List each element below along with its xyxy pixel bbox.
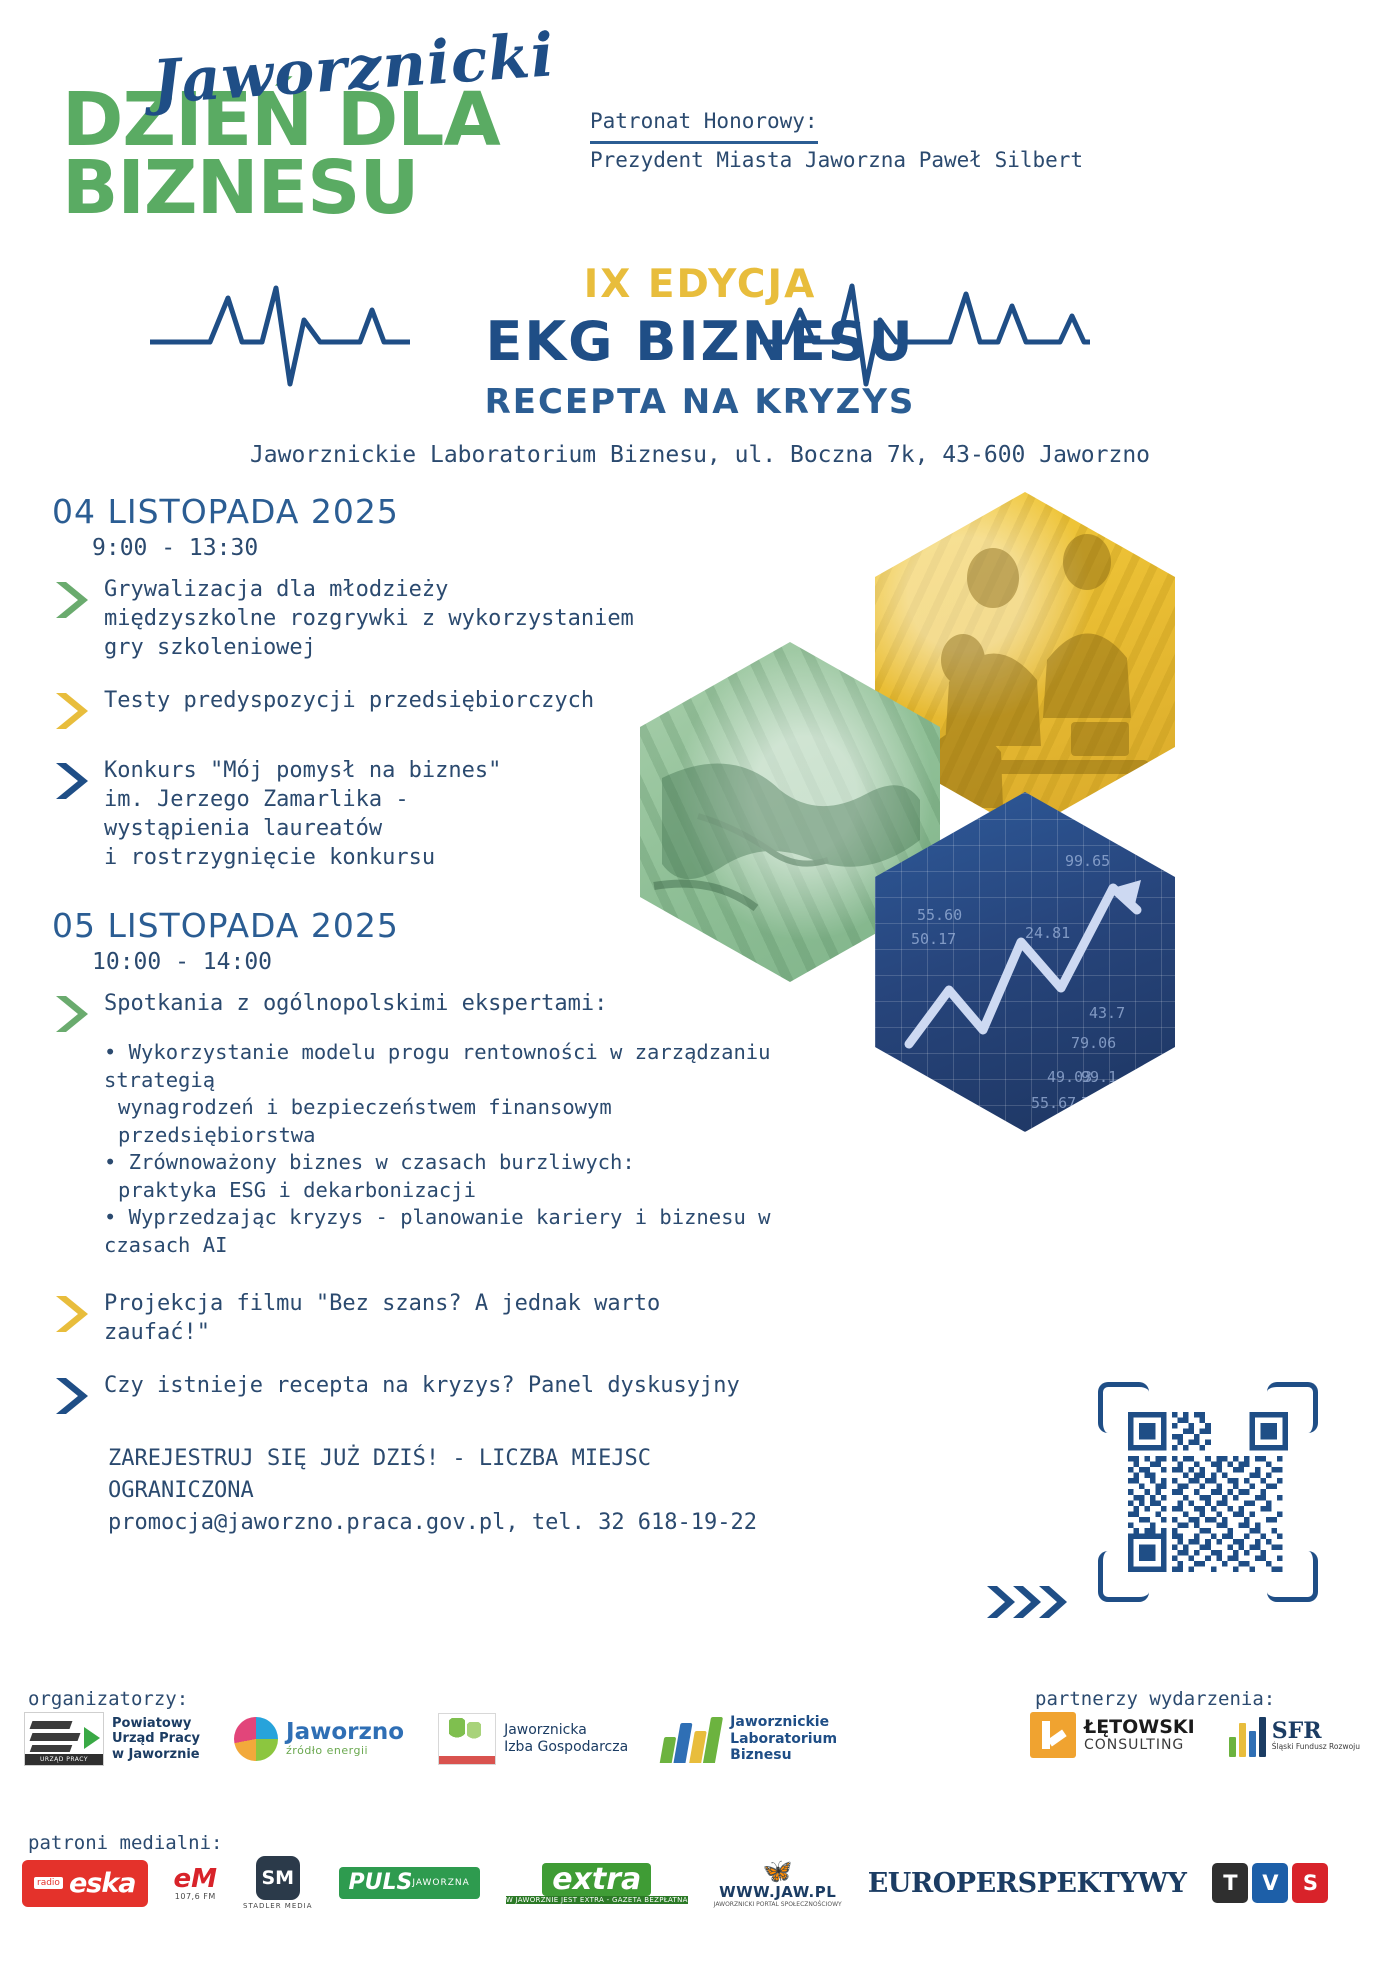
program-item-text: Konkurs "Mój pomysł na biznes" im. Jerze… <box>104 756 501 872</box>
logo-powiatowy-urzad-pracy: URZĄD PRACY Powiatowy Urząd Pracy w Jawo… <box>24 1712 200 1766</box>
hexagon-photo-market-chart: 99.65 55.60 50.17 24.81 79.06 49.03 99.1… <box>875 792 1175 1132</box>
edition-title: IX EDYCJA <box>0 262 1400 307</box>
jaworzno-name: Jaworzno <box>286 1721 404 1744</box>
jig-line-2: Izba Gospodarcza <box>504 1739 628 1757</box>
stadler-name: STADLER MEDIA <box>243 1902 312 1910</box>
eska-name: eska <box>69 1868 136 1899</box>
program-item-text: Testy predyspozycji przedsiębiorczych <box>104 686 594 715</box>
powiatowy-urzad-pracy-text: Powiatowy Urząd Pracy w Jaworznie <box>112 1716 200 1763</box>
svg-text:99.65: 99.65 <box>1065 852 1110 870</box>
em-frequency: 107,6 FM <box>175 1892 216 1901</box>
extra-name: extra <box>542 1863 651 1896</box>
registration-headline: ZAREJESTRUJ SIĘ JUŻ DZIŚ! - LICZBA MIEJS… <box>108 1443 772 1507</box>
media-partners-logo-row: radio eska eM 107,6 FM SM STADLER MEDIA … <box>22 1856 1328 1910</box>
letowski-text: ŁĘTOWSKI CONSULTING <box>1084 1718 1195 1753</box>
venue-address: Jaworznickie Laboratorium Biznesu, ul. B… <box>0 442 1400 468</box>
jaworzno-tagline: źródło energii <box>286 1744 404 1757</box>
puls-subtitle: JAWORZNA <box>412 1878 469 1888</box>
program-item-head: Testy predyspozycji przedsiębiorczych <box>104 686 594 715</box>
logo-jaworzno-zrodlo-energii: Jaworzno źródło energii <box>234 1717 404 1761</box>
eska-radio-tag: radio <box>34 1877 63 1889</box>
logo-slaski-fundusz-rozwoju: SFR Śląski Fundusz Rozwoju <box>1229 1713 1360 1757</box>
sfr-text: SFR Śląski Fundusz Rozwoju <box>1272 1720 1360 1751</box>
pup-line-1: Powiatowy <box>112 1716 200 1732</box>
program-item-text: Projekcja filmu "Bez szans? A jednak war… <box>104 1289 772 1347</box>
urzad-pracy-caption: URZĄD PRACY <box>25 1754 103 1765</box>
sfr-fullname: Śląski Fundusz Rozwoju <box>1272 1742 1360 1751</box>
program-item-text: Spotkania z ogólnopolskimi ekspertami: <box>104 989 607 1018</box>
svg-text:50.17: 50.17 <box>911 930 956 948</box>
izba-gospodarcza-text: Jaworznicka Izba Gospodarcza <box>504 1722 628 1757</box>
jawpl-subtitle: JAWORZNICKI PORTAL SPOŁECZNOŚCIOWY <box>714 1901 842 1908</box>
logo-jaworznickie-laboratorium-biznesu: Jaworznickie Laboratorium Biznesu <box>662 1714 837 1764</box>
partners-label: partnerzy wydarzenia: <box>1035 1688 1275 1710</box>
registration-qr-code[interactable] <box>1098 1382 1318 1602</box>
letowski-mark-icon <box>1030 1712 1076 1758</box>
chevron-right-icon <box>52 686 104 732</box>
program-item-head: Konkurs "Mój pomysł na biznes" <box>104 756 501 785</box>
tvs-letter-s: S <box>1292 1863 1328 1903</box>
svg-text:77.1: 77.1 <box>1081 1094 1117 1112</box>
patronage-block: Patronat Honorowy: Prezydent Miasta Jawo… <box>590 105 1083 177</box>
jaworzno-orb-icon <box>234 1717 278 1761</box>
poster-root: Jaworznicki DZIEŃ DLA BIZNESU Patronat H… <box>0 0 1400 1980</box>
patronage-person: Prezydent Miasta Jaworzna Paweł Silbert <box>590 144 1083 178</box>
chevron-right-icon <box>52 575 104 621</box>
svg-text:55.60: 55.60 <box>917 906 962 924</box>
program-item-head: Grywalizacja dla młodzieży <box>104 575 634 604</box>
logo-stadler-media: SM STADLER MEDIA <box>243 1856 312 1910</box>
svg-text:43.7: 43.7 <box>1089 1004 1125 1022</box>
event-logo: Jaworznicki DZIEŃ DLA BIZNESU <box>62 40 532 222</box>
hexagon-photo-collage: 99.65 55.60 50.17 24.81 79.06 49.03 99.1… <box>640 492 1360 1172</box>
media-partners-label: patroni medialni: <box>28 1832 222 1854</box>
main-title: EKG BIZNESU <box>0 310 1400 373</box>
program-item-head: Projekcja filmu "Bez szans? A jednak war… <box>104 1289 772 1347</box>
logo-europerspektywy: EUROPERSPEKTYWY <box>868 1868 1187 1899</box>
pup-line-2: Urząd Pracy <box>112 1731 200 1747</box>
svg-text:79.06: 79.06 <box>1071 1034 1116 1052</box>
program-item-text: Grywalizacja dla młodzieży międzyszkolne… <box>104 575 634 662</box>
chevron-right-icon <box>52 989 104 1035</box>
svg-text:55.67: 55.67 <box>1031 1094 1076 1112</box>
organizers-label: organizatorzy: <box>28 1688 188 1710</box>
triple-chevron-icon <box>985 1580 1073 1624</box>
patronage-label: Patronat Honorowy: <box>590 105 818 144</box>
logo-letowski-consulting: ŁĘTOWSKI CONSULTING <box>1030 1712 1195 1758</box>
sfr-bars-icon <box>1229 1713 1266 1757</box>
program-item-sub: im. Jerzego Zamarlika - <box>104 785 501 814</box>
puls-name: PULS <box>349 1872 413 1894</box>
organizers-logo-row: URZĄD PRACY Powiatowy Urząd Pracy w Jawo… <box>24 1712 837 1766</box>
jig-line-1: Jaworznicka <box>504 1722 628 1740</box>
expert-topic-cont: praktyka ESG i dekarbonizacji <box>118 1177 772 1204</box>
chevron-right-icon <box>52 1371 104 1417</box>
program-item-sub: gry szkoleniowej <box>104 633 634 662</box>
subtitle: RECEPTA NA KRYZYS <box>0 382 1400 422</box>
program-item: Czy istnieje recepta na kryzys? Panel dy… <box>52 1371 772 1417</box>
jawpl-name: WWW.JAW.PL <box>719 1883 836 1901</box>
logo-extra-jaworzno: extra W JAWORZNIE JEST EXTRA - GAZETA BE… <box>506 1863 688 1904</box>
logo-puls-jaworzna: PULS JAWORZNA <box>339 1867 480 1899</box>
program-item-sub: wystąpienia laureatów <box>104 814 501 843</box>
extra-subtitle: W JAWORZNIE JEST EXTRA - GAZETA BEZPŁATN… <box>506 1896 688 1904</box>
program-item: Projekcja filmu "Bez szans? A jednak war… <box>52 1289 772 1347</box>
letowski-name: ŁĘTOWSKI <box>1084 1718 1195 1737</box>
tvs-letter-v: V <box>1252 1863 1288 1903</box>
urzad-pracy-mark-icon: URZĄD PRACY <box>24 1712 104 1766</box>
chevron-right-icon <box>52 756 104 802</box>
svg-text:99.1: 99.1 <box>1081 1068 1117 1086</box>
qr-matrix <box>1128 1412 1288 1572</box>
registration-call-to-action: ZAREJESTRUJ SIĘ JUŻ DZIŚ! - LICZBA MIEJS… <box>108 1443 772 1539</box>
program-item-text: Czy istnieje recepta na kryzys? Panel dy… <box>104 1371 740 1400</box>
program-item-sub: i rostrzygnięcie konkursu <box>104 843 501 872</box>
svg-text:24.81: 24.81 <box>1025 924 1070 942</box>
logo-radio-em: eM 107,6 FM <box>174 1866 218 1901</box>
logo-tvs: T V S <box>1212 1863 1328 1903</box>
laboratorium-text: Jaworznickie Laboratorium Biznesu <box>730 1714 837 1764</box>
program-item-head: Spotkania z ogólnopolskimi ekspertami: <box>104 989 607 1018</box>
tvs-letter-t: T <box>1212 1863 1248 1903</box>
program-item-head: Czy istnieje recepta na kryzys? Panel dy… <box>104 1371 740 1400</box>
butterfly-icon: 🦋 <box>763 1859 793 1883</box>
letowski-tagline: CONSULTING <box>1084 1737 1195 1753</box>
logo-line-2: BIZNESU <box>62 154 532 222</box>
pup-line-3: w Jaworznie <box>112 1747 200 1763</box>
jlb-line-3: Biznesu <box>730 1747 837 1764</box>
logo-radio-eska: radio eska <box>22 1860 148 1907</box>
jlb-line-2: Laboratorium <box>730 1731 837 1748</box>
program-item-sub: międzyszkolne rozgrywki z wykorzystaniem <box>104 604 634 633</box>
logo-jaw-pl: 🦋 WWW.JAW.PL JAWORZNICKI PORTAL SPOŁECZN… <box>714 1859 842 1908</box>
jlb-line-1: Jaworznickie <box>730 1714 837 1731</box>
registration-contact: promocja@jaworzno.praca.gov.pl, tel. 32 … <box>108 1507 772 1539</box>
logo-jaworznicka-izba-gospodarcza: Jaworznicka Izba Gospodarcza <box>438 1713 628 1765</box>
stadler-mark-icon: SM <box>256 1856 300 1900</box>
sfr-abbrev: SFR <box>1272 1720 1360 1742</box>
chevron-right-icon <box>52 1289 104 1335</box>
izba-gospodarcza-mark-icon <box>438 1713 496 1765</box>
partners-logo-row: ŁĘTOWSKI CONSULTING SFR Śląski Fundusz R… <box>1030 1712 1360 1758</box>
laboratorium-mark-icon <box>662 1715 720 1763</box>
expert-topic: • Wyprzedzając kryzys - planowanie karie… <box>104 1204 772 1259</box>
jaworzno-text: Jaworzno źródło energii <box>286 1721 404 1757</box>
em-name: eM <box>174 1866 218 1892</box>
